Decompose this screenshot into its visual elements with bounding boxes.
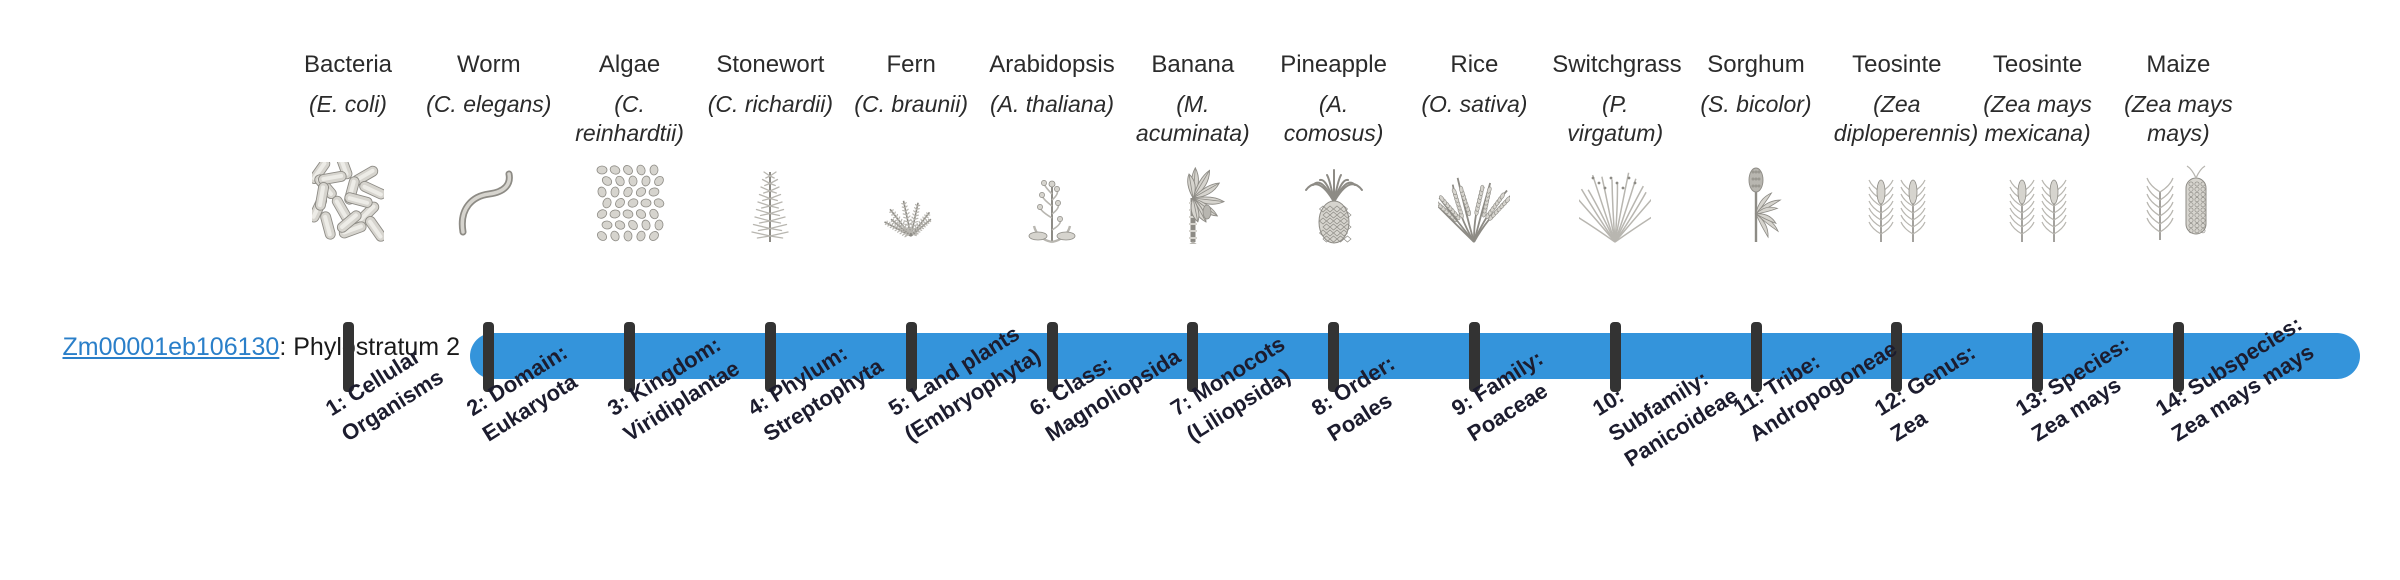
species-column: Pineapple(A. comosus) [1271, 50, 1397, 148]
species-common-name: Fern [848, 50, 974, 80]
species-column: Rice(O. sativa) [1411, 50, 1537, 119]
pineapple-icon [1271, 162, 1397, 244]
maize-ear-icon [2115, 162, 2241, 244]
species-column: Stonewort(C. richardii) [707, 50, 833, 119]
species-common-name: Stonewort [707, 50, 833, 80]
species-scientific-name: (O. sativa) [1411, 90, 1537, 119]
species-column: Teosinte(Zea mays mexicana) [1975, 50, 2101, 148]
switchgrass-icon [1552, 162, 1678, 244]
species-scientific-name: (Zea mays mexicana) [1975, 90, 2101, 148]
gene-label-separator: : [279, 333, 293, 361]
teosinte-mexicana-icon [1975, 162, 2101, 244]
teosinte-ears-icon [1834, 162, 1960, 244]
species-scientific-name: (C. reinhardtii) [567, 90, 693, 148]
species-column: Fern(C. braunii) [848, 50, 974, 119]
species-scientific-name: (Zea diploperennis) [1834, 90, 1960, 148]
species-scientific-name: (Zea mays mays) [2115, 90, 2241, 148]
stonewort-icon [707, 162, 833, 244]
species-column: Switchgrass(P. virgatum) [1552, 50, 1678, 148]
species-common-name: Teosinte [1834, 50, 1960, 80]
species-common-name: Worm [426, 50, 552, 80]
species-scientific-name: (M. acuminata) [1130, 90, 1256, 148]
fern-frond-icon [848, 162, 974, 244]
species-scientific-name: (C. richardii) [707, 90, 833, 119]
nematode-worm-icon [426, 162, 552, 244]
algae-cells-icon [567, 162, 693, 244]
species-column: Worm(C. elegans) [426, 50, 552, 119]
species-scientific-name: (A. comosus) [1271, 90, 1397, 148]
species-common-name: Bacteria [285, 50, 411, 80]
species-scientific-name: (E. coli) [285, 90, 411, 119]
species-common-name: Algae [567, 50, 693, 80]
species-column: Arabidopsis(A. thaliana) [989, 50, 1115, 119]
species-common-name: Teosinte [1975, 50, 2101, 80]
species-common-name: Pineapple [1271, 50, 1397, 80]
rice-plant-icon [1411, 162, 1537, 244]
species-common-name: Maize [2115, 50, 2241, 80]
species-common-name: Sorghum [1693, 50, 1819, 80]
species-column: Maize(Zea mays mays) [2115, 50, 2241, 148]
bacteria-rods-icon [285, 162, 411, 244]
species-common-name: Banana [1130, 50, 1256, 80]
species-column: Teosinte(Zea diploperennis) [1834, 50, 1960, 148]
species-common-name: Arabidopsis [989, 50, 1115, 80]
banana-plant-icon [1130, 162, 1256, 244]
arabidopsis-icon [989, 162, 1115, 244]
phylostratigraphy-chart: Zm00001eb106130: Phylostratum 2 Bacteria… [0, 0, 2400, 580]
species-scientific-name: (S. bicolor) [1693, 90, 1819, 119]
species-common-name: Rice [1411, 50, 1537, 80]
species-column: Sorghum(S. bicolor) [1693, 50, 1819, 119]
sorghum-icon [1693, 162, 1819, 244]
gene-id-link[interactable]: Zm00001eb106130 [62, 333, 279, 361]
species-common-name: Switchgrass [1552, 50, 1678, 80]
species-column: Bacteria(E. coli) [285, 50, 411, 119]
species-scientific-name: (P. virgatum) [1552, 90, 1678, 148]
species-scientific-name: (C. elegans) [426, 90, 552, 119]
species-column: Algae(C. reinhardtii) [567, 50, 693, 148]
species-scientific-name: (C. braunii) [848, 90, 974, 119]
species-scientific-name: (A. thaliana) [989, 90, 1115, 119]
species-column: Banana(M. acuminata) [1130, 50, 1256, 148]
